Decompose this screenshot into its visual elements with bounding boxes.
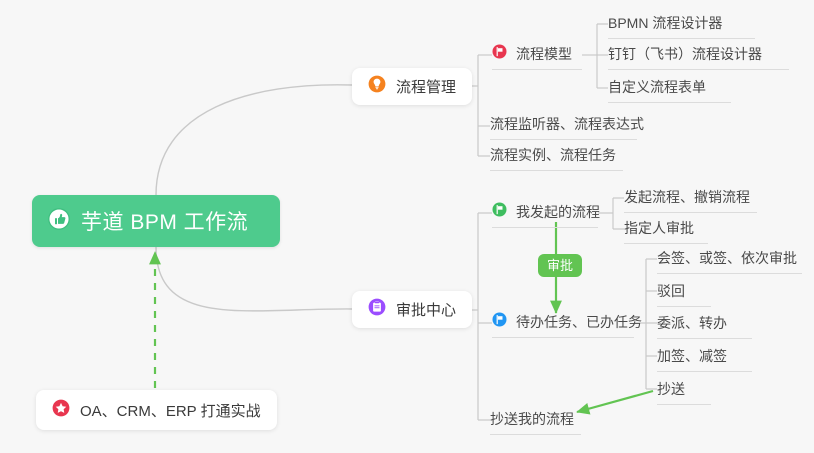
leaf-cc[interactable]: 抄送 (657, 379, 711, 405)
leaf-delegate-transfer[interactable]: 委派、转办 (657, 313, 752, 339)
leaf-my-initiated-process[interactable]: 我发起的流程 (492, 202, 598, 228)
leaf-dingtalk-feishu-designer[interactable]: 钉钉（飞书）流程设计器 (608, 44, 789, 70)
leaf-label-delegate-transfer: 委派、转办 (657, 313, 727, 333)
star-icon (52, 399, 70, 422)
root-label: 芋道 BPM 工作流 (81, 206, 248, 236)
leaf-label-cc: 抄送 (657, 379, 685, 399)
leaf-bpmn-designer[interactable]: BPMN 流程设计器 (608, 13, 755, 39)
leaf-label-instance-task: 流程实例、流程任务 (490, 145, 616, 165)
annotation-badge-approve: 审批 (538, 254, 582, 277)
leaf-label-listener-expression: 流程监听器、流程表达式 (490, 114, 644, 134)
leaf-label-my-initiated-process: 我发起的流程 (516, 202, 600, 222)
lightbulb-pin-icon (368, 75, 386, 98)
leaf-listener-expression[interactable]: 流程监听器、流程表达式 (490, 114, 637, 140)
branch-label-process-management: 流程管理 (396, 76, 456, 97)
leaf-label-dingtalk-feishu-designer: 钉钉（飞书）流程设计器 (608, 44, 762, 64)
branch-label-approval-center: 审批中心 (396, 299, 456, 320)
leaf-label-bpmn-designer: BPMN 流程设计器 (608, 13, 722, 33)
mindmap-canvas: 芋道 BPM 工作流 流程管理 流程模型 BPMN 流程设计器 钉钉（飞书 (0, 0, 814, 453)
link-root-to-process-management (156, 85, 352, 195)
flag-icon (492, 312, 507, 332)
flag-icon (492, 44, 507, 64)
bottom-node-oa-crm-erp[interactable]: OA、CRM、ERP 打通实战 (36, 390, 277, 430)
branch-node-process-management[interactable]: 流程管理 (352, 68, 472, 105)
leaf-cc-to-me-process[interactable]: 抄送我的流程 (490, 409, 581, 435)
branch-node-approval-center[interactable]: 审批中心 (352, 291, 472, 328)
leaf-label-cc-to-me-process: 抄送我的流程 (490, 409, 574, 429)
flag-icon (492, 202, 507, 222)
leaf-label-countersign-types: 会签、或签、依次审批 (657, 248, 797, 268)
link-root-to-approval-center (156, 247, 352, 311)
leaf-assignee-approval[interactable]: 指定人审批 (624, 218, 708, 244)
leaf-label-reject: 驳回 (657, 281, 685, 301)
leaf-process-model[interactable]: 流程模型 (492, 44, 582, 70)
leaf-label-add-remove-sign: 加签、减签 (657, 346, 727, 366)
thumbs-up-icon (48, 208, 70, 235)
bottom-node-label: OA、CRM、ERP 打通实战 (80, 400, 261, 421)
clipboard-icon (368, 298, 386, 321)
leaf-label-start-cancel-process: 发起流程、撤销流程 (624, 187, 750, 207)
leaf-label-custom-process-form: 自定义流程表单 (608, 77, 706, 97)
leaf-label-process-model: 流程模型 (516, 44, 572, 64)
leaf-countersign-types[interactable]: 会签、或签、依次审批 (657, 248, 802, 274)
leaf-start-cancel-process[interactable]: 发起流程、撤销流程 (624, 187, 757, 213)
leaf-add-remove-sign[interactable]: 加签、减签 (657, 346, 752, 372)
annotation-badge-approve-label: 审批 (547, 258, 573, 273)
leaf-instance-task[interactable]: 流程实例、流程任务 (490, 145, 623, 171)
leaf-custom-process-form[interactable]: 自定义流程表单 (608, 77, 731, 103)
leaf-todo-done-tasks[interactable]: 待办任务、已办任务 (492, 312, 634, 338)
leaf-label-assignee-approval: 指定人审批 (624, 218, 694, 238)
root-node[interactable]: 芋道 BPM 工作流 (32, 195, 280, 247)
leaf-label-todo-done-tasks: 待办任务、已办任务 (516, 312, 642, 332)
leaf-reject[interactable]: 驳回 (657, 281, 711, 307)
annotation-arrow-cc (577, 391, 653, 412)
